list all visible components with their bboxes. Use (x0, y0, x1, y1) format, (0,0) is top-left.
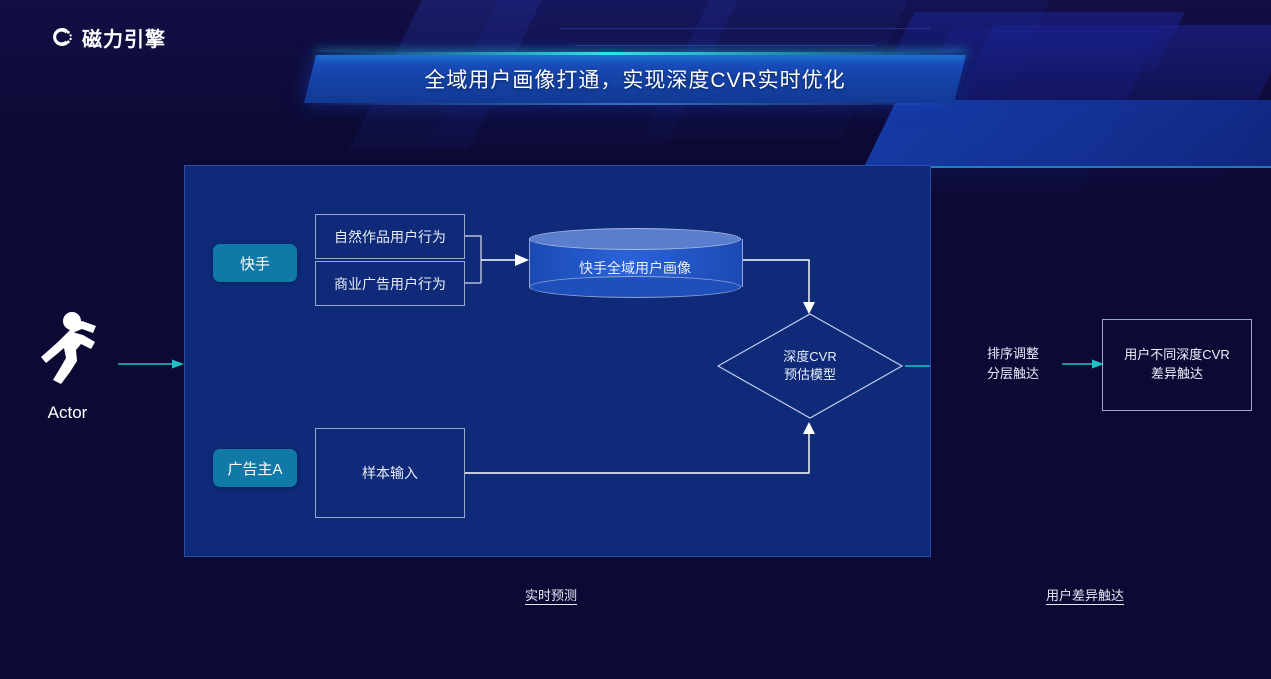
brand-logo: 磁力引擎 (48, 24, 166, 55)
realtime-prediction-panel: 快手 广告主A 自然作品用户行为 商业广告用户行为 样本输入 快手全域用户画像 … (184, 165, 931, 557)
caption-user-differential-reach: 用户差异触达 (1046, 585, 1124, 604)
slide-canvas: 磁力引擎 全域用户画像打通，实现深度CVR实时优化 Actor (0, 0, 1271, 679)
box-sample-input[interactable]: 样本输入 (315, 428, 465, 518)
title-banner: 全域用户画像打通，实现深度CVR实时优化 (310, 55, 960, 103)
model-label-line2: 预估模型 (784, 366, 836, 384)
actor-figure: Actor (20, 310, 115, 423)
magnetic-c-icon (48, 24, 74, 55)
bg-line-b (575, 45, 875, 46)
source-pill-advertiser[interactable]: 广告主A (213, 449, 297, 487)
bg-line-a (560, 28, 930, 29)
actor-label: Actor (20, 403, 115, 423)
page-title: 全域用户画像打通，实现深度CVR实时优化 (310, 55, 960, 103)
datastore-user-profile[interactable]: 快手全域用户画像 (529, 228, 741, 294)
running-person-icon (33, 377, 103, 394)
output-line1: 用户不同深度CVR (1124, 346, 1229, 365)
edge-label-line1: 排序调整 (968, 344, 1058, 364)
cylinder-top-ellipse (529, 228, 741, 250)
edge-to-output-arrow (1062, 357, 1104, 369)
model-label: 深度CVR 预估模型 (715, 311, 905, 421)
caption-realtime-prediction: 实时预测 (525, 585, 577, 604)
output-line2: 差异触达 (1151, 365, 1203, 384)
model-label-line1: 深度CVR (783, 348, 836, 366)
source-pill-kuaishou[interactable]: 快手 (213, 244, 297, 282)
box-natural-behavior[interactable]: 自然作品用户行为 (315, 214, 465, 259)
actor-to-panel-arrow (118, 357, 184, 369)
edge-label-ranking: 排序调整 分层触达 (968, 344, 1058, 383)
datastore-label: 快手全域用户画像 (529, 250, 741, 286)
decision-deep-cvr-model[interactable]: 深度CVR 预估模型 (715, 311, 905, 421)
brand-name: 磁力引擎 (82, 30, 166, 50)
box-commercial-behavior[interactable]: 商业广告用户行为 (315, 261, 465, 306)
edge-label-line2: 分层触达 (968, 364, 1058, 384)
box-output-differential-reach[interactable]: 用户不同深度CVR 差异触达 (1102, 319, 1252, 411)
